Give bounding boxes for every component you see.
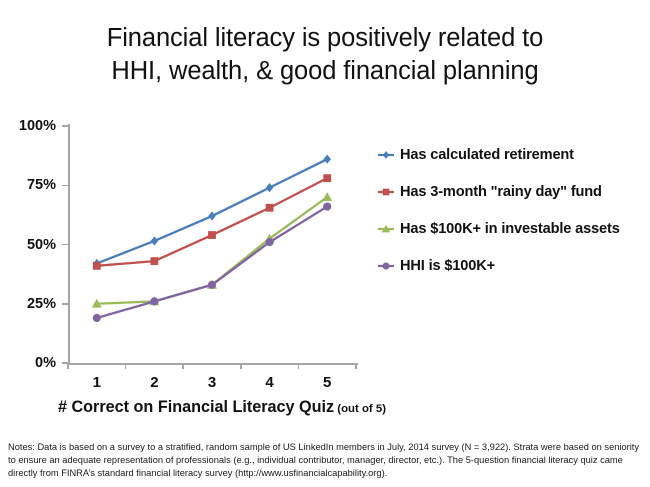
x-axis-title-suffix: (out of 5) xyxy=(334,403,386,415)
footnote-text: Notes: Data is based on a survey to a st… xyxy=(8,441,644,481)
legend-square-marker-icon xyxy=(378,184,400,200)
data-point-marker xyxy=(383,263,390,270)
page-title: Financial literacy is positively related… xyxy=(0,22,650,87)
data-point-marker xyxy=(208,231,216,239)
data-point-marker xyxy=(93,262,101,270)
chart-legend: Has calculated retirementHas 3-month "ra… xyxy=(378,138,640,286)
legend-item-2[interactable]: Has 3-month "rainy day" fund xyxy=(378,175,640,209)
series-2 xyxy=(93,174,331,269)
legend-label: HHI is $100K+ xyxy=(400,258,495,274)
legend-label: Has calculated retirement xyxy=(400,147,574,163)
data-point-marker xyxy=(383,189,390,196)
series-3 xyxy=(92,192,332,308)
data-point-marker xyxy=(266,183,274,192)
data-point-marker xyxy=(208,281,216,289)
data-point-marker xyxy=(150,297,158,305)
title-line-2: HHI, wealth, & good financial planning xyxy=(0,55,650,88)
legend-item-4[interactable]: HHI is $100K+ xyxy=(378,249,640,283)
data-point-marker xyxy=(93,314,101,322)
legend-item-1[interactable]: Has calculated retirement xyxy=(378,138,640,172)
legend-triangle-marker-icon xyxy=(378,221,400,237)
legend-diamond-marker-icon xyxy=(378,147,400,163)
data-point-marker xyxy=(322,192,332,201)
slide-canvas: Financial literacy is positively related… xyxy=(0,0,650,487)
x-axis-title-main: # Correct on Financial Literacy Quiz xyxy=(58,398,334,416)
title-line-1: Financial literacy is positively related… xyxy=(0,22,650,55)
series-line xyxy=(97,159,327,263)
data-point-marker xyxy=(323,155,331,164)
data-point-marker xyxy=(266,238,274,246)
data-point-marker xyxy=(383,151,389,159)
legend-item-3[interactable]: Has $100K+ in investable assets xyxy=(378,212,640,246)
legend-circle-marker-icon xyxy=(378,258,400,274)
data-point-marker xyxy=(266,204,274,212)
data-point-marker xyxy=(151,236,159,245)
series-1 xyxy=(93,155,331,268)
data-point-marker xyxy=(208,211,216,220)
data-point-marker xyxy=(323,202,331,210)
data-point-marker xyxy=(323,174,331,182)
footnote: Notes: Data is based on a survey to a st… xyxy=(8,441,644,481)
x-axis-title: # Correct on Financial Literacy Quiz (ou… xyxy=(52,398,392,417)
legend-label: Has 3-month "rainy day" fund xyxy=(400,184,602,200)
legend-label: Has $100K+ in investable assets xyxy=(400,221,620,237)
data-point-marker xyxy=(151,257,159,265)
